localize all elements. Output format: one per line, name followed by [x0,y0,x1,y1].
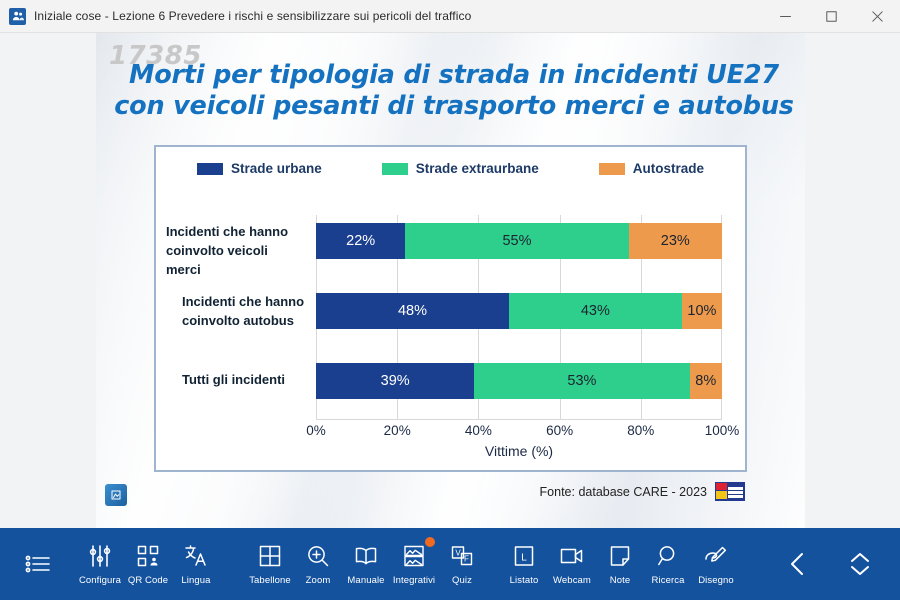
tool-ricerca[interactable]: Ricerca [644,528,692,600]
legend-swatch [382,163,408,175]
bottom-toolbar: Configura QR Code Lingua [0,528,900,600]
bar-segment-strade-urbane: 48% [316,293,509,329]
tool-label: Listato [510,575,539,586]
tool-label: QR Code [128,575,168,586]
translate-icon [184,542,208,570]
bar-row: Incidenti che hanno coinvolto autobus 48… [316,293,722,329]
tool-zoom[interactable]: Zoom [294,528,342,600]
quiz-icon: V F [450,542,474,570]
tool-label: Manuale [347,575,384,586]
sliders-icon [88,542,112,570]
list-menu-icon-button[interactable] [14,528,62,600]
tool-integrativi[interactable]: Integrativi [390,528,438,600]
chart: Strade urbane Strade extraurbane Autostr… [154,145,747,472]
pen-icon [703,542,729,570]
x-tick-label: 0% [306,423,326,438]
legend-item: Strade urbane [197,161,322,176]
category-label: Tutti gli incidenti [166,363,316,390]
tool-note[interactable]: Note [596,528,644,600]
tool-tabellone[interactable]: Tabellone [246,528,294,600]
svg-text:L: L [521,553,527,564]
bar-segment-strade-extraurbane: 55% [405,223,628,259]
chevron-left-icon [785,550,811,578]
bar-segment-autostrade: 8% [690,363,722,399]
maximize-button[interactable] [808,0,854,32]
list-menu-icon [24,550,52,578]
minimize-button[interactable] [762,0,808,32]
slide-workspace: 17385 Morti per tipologia di strada in i… [0,33,900,528]
tool-label: Configura [79,575,121,586]
tool-disegno[interactable]: Disegno [692,528,740,600]
app-brand-logo [105,484,127,506]
x-tick-label: 20% [384,423,411,438]
legend-swatch [197,163,223,175]
chart-plot-area: Incidenti che hanno coinvolto veicoli me… [316,215,722,420]
tool-qr-code[interactable]: QR Code [124,528,172,600]
grid-table-icon [258,542,282,570]
x-tick-label: 100% [705,423,740,438]
legend-swatch [599,163,625,175]
legend-label: Strade urbane [231,161,322,176]
tool-manuale[interactable]: Manuale [342,528,390,600]
window-titlebar: Iniziale cose - Lezione 6 Prevedere i ri… [0,0,900,33]
book-icon [353,542,379,570]
tool-quiz[interactable]: V F Quiz [438,528,486,600]
nav-updown-button[interactable] [836,528,884,600]
notification-badge [425,537,435,547]
x-axis-title: Vittime (%) [316,443,722,459]
source-note: Fonte: database CARE - 2023 [540,482,745,501]
images-icon [402,542,426,570]
close-button[interactable] [854,0,900,32]
tool-configura[interactable]: Configura [76,528,124,600]
bar-segment-strade-urbane: 39% [316,363,474,399]
bar-segment-strade-urbane: 22% [316,223,405,259]
bar-segment-strade-extraurbane: 43% [509,293,682,329]
x-tick-label: 60% [546,423,573,438]
tool-lingua[interactable]: Lingua [172,528,220,600]
tool-label: Tabellone [249,575,291,586]
bar-row: Incidenti che hanno coinvolto veicoli me… [316,223,722,259]
tool-label: Ricerca [652,575,685,586]
tool-webcam[interactable]: Webcam [548,528,596,600]
tool-label: Integrativi [393,575,435,586]
tool-label: Webcam [553,575,591,586]
tool-label: Zoom [306,575,331,586]
note-icon [608,542,632,570]
tool-label: Quiz [452,575,472,586]
people-icon [9,8,26,25]
category-label: Incidenti che hanno coinvolto veicoli me… [166,223,316,280]
category-label: Incidenti che hanno coinvolto autobus [166,293,316,331]
x-tick-label: 80% [627,423,654,438]
nav-previous-button[interactable] [774,528,822,600]
search-icon [656,542,680,570]
bar-segment-autostrade: 23% [629,223,722,259]
tool-listato[interactable]: L Listato [500,528,548,600]
tool-label: Disegno [698,575,734,586]
zoom-in-icon [306,542,330,570]
bar-segment-autostrade: 10% [682,293,722,329]
etsc-logo [715,482,745,501]
legend-item: Strade extraurbane [382,161,539,176]
slide-title: Morti per tipologia di strada in inciden… [104,60,804,122]
source-text: Fonte: database CARE - 2023 [540,485,707,499]
webcam-icon [559,542,585,570]
bar-segment-strade-extraurbane: 53% [474,363,689,399]
x-tick-label: 40% [465,423,492,438]
slide-canvas[interactable]: 17385 Morti per tipologia di strada in i… [96,33,805,528]
chart-x-axis: 0% 20% 40% 60% 80% 100% [316,423,722,443]
app-window: Iniziale cose - Lezione 6 Prevedere i ri… [0,0,900,600]
svg-text:V: V [455,548,461,557]
chevron-updown-icon [847,550,873,578]
tool-label: Note [610,575,630,586]
legend-label: Autostrade [633,161,704,176]
tool-label: Lingua [181,575,210,586]
legend-label: Strade extraurbane [416,161,539,176]
qrcode-icon [136,542,160,570]
listato-icon: L [512,542,536,570]
bar-row: Tutti gli incidenti 39% 53% 8% [316,363,722,399]
window-title: Iniziale cose - Lezione 6 Prevedere i ri… [34,9,471,23]
chart-legend: Strade urbane Strade extraurbane Autostr… [156,161,745,176]
svg-text:F: F [464,555,469,564]
legend-item: Autostrade [599,161,704,176]
